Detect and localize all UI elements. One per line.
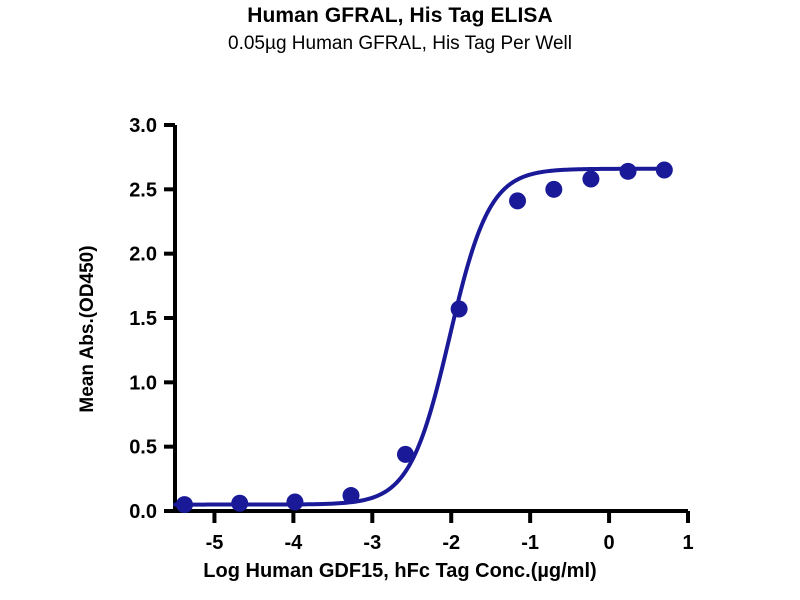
x-axis-ticks: -5-4-3-2-101 (206, 511, 694, 554)
data-point (545, 181, 562, 198)
fit-curve (175, 169, 664, 505)
axis-spines (173, 125, 688, 511)
data-point (620, 163, 637, 180)
x-tick-label: -4 (284, 532, 303, 554)
x-tick-label: -5 (206, 532, 224, 554)
y-tick-label: 3.0 (129, 115, 157, 137)
x-tick-label: -1 (521, 532, 539, 554)
data-point (582, 171, 599, 188)
data-point (509, 192, 526, 209)
data-point (343, 487, 360, 504)
x-tick-label: -2 (442, 532, 460, 554)
y-tick-label: 2.5 (129, 179, 157, 201)
x-tick-label: 1 (682, 532, 693, 554)
y-tick-label: 0.0 (129, 501, 157, 523)
y-axis-ticks: 0.00.51.01.52.02.53.0 (129, 115, 175, 523)
x-tick-label: 0 (604, 532, 615, 554)
y-tick-label: 1.0 (129, 372, 157, 394)
plot-area: 0.00.51.01.52.02.53.0 -5-4-3-2-101 (0, 0, 800, 600)
x-tick-label: -3 (363, 532, 381, 554)
data-point (656, 162, 673, 179)
y-tick-label: 1.5 (129, 308, 157, 330)
data-point (176, 496, 193, 513)
data-point (451, 300, 468, 317)
data-point (231, 495, 248, 512)
data-point (286, 493, 303, 510)
data-point (397, 446, 414, 463)
y-tick-label: 0.5 (129, 437, 157, 459)
chart-figure: Human GFRAL, His Tag ELISA 0.05µg Human … (0, 0, 800, 600)
y-tick-label: 2.0 (129, 244, 157, 266)
data-point-markers (176, 162, 673, 514)
